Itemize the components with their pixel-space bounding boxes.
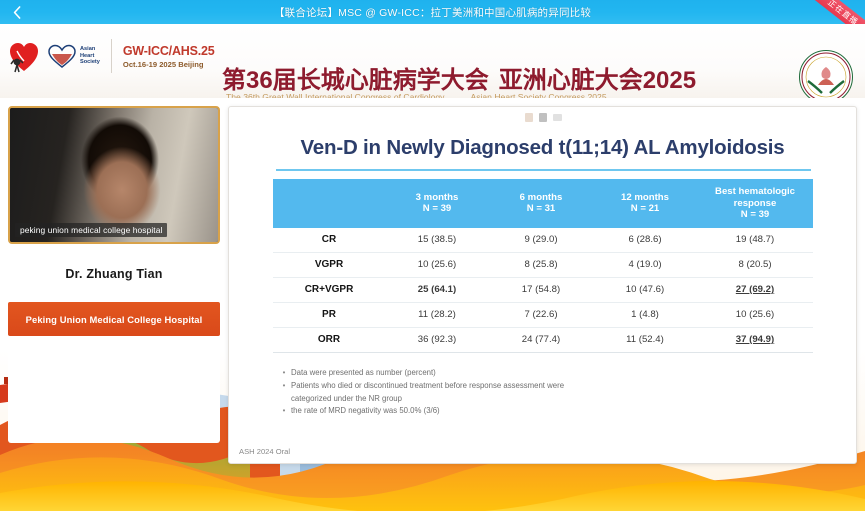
cell: 10 (47.6) <box>593 277 697 302</box>
cell: 19 (48.7) <box>697 228 813 253</box>
cell: 1 (4.8) <box>593 302 697 327</box>
ahs-heart-icon <box>47 42 77 70</box>
slide-reference: ASH 2024 Oral <box>239 447 290 456</box>
cell: 10 (25.6) <box>385 252 489 277</box>
congress-code: GW-ICC/AHS.25 <box>123 44 215 58</box>
cell: 10 (25.6) <box>697 302 813 327</box>
page-title: 【联合论坛】MSC @ GW-ICC：拉丁美洲和中国心肌病的异同比较 <box>0 5 865 20</box>
grid-icon[interactable] <box>553 114 562 121</box>
slide-toolbar <box>229 110 857 124</box>
congress-header: Asian Heart Society GW-ICC/AHS.25 Oct.16… <box>0 24 865 98</box>
mexican-cardiology-society-seal-icon <box>799 50 853 98</box>
note-text: Patients who died or discontinued treatm… <box>291 380 777 392</box>
cell: 15 (38.5) <box>385 228 489 253</box>
cell: 37 (94.9) <box>697 327 813 352</box>
header-label: 12 months <box>595 192 695 204</box>
cell: 7 (22.6) <box>489 302 593 327</box>
table-row: ORR 36 (92.3) 24 (77.4) 11 (52.4) 37 (94… <box>273 327 813 352</box>
table-header-row: 3 months N = 39 6 months N = 31 12 month… <box>273 179 813 228</box>
cell: 36 (92.3) <box>385 327 489 352</box>
row-label: CR <box>273 228 385 253</box>
header-n: N = 39 <box>387 203 487 215</box>
cell: 4 (19.0) <box>593 252 697 277</box>
header-label: Best hematologic response <box>699 186 811 209</box>
header-logo-group: Asian Heart Society GW-ICC/AHS.25 Oct.16… <box>8 38 215 74</box>
row-label: PR <box>273 302 385 327</box>
cell: 11 (52.4) <box>593 327 697 352</box>
slide-title: Ven-D in Newly Diagnosed t(11;14) AL Amy… <box>229 136 856 160</box>
cell: 9 (29.0) <box>489 228 593 253</box>
slide-notes: • Data were presented as number (percent… <box>277 367 777 418</box>
cell: 8 (25.8) <box>489 252 593 277</box>
table-header-12-months: 12 months N = 21 <box>593 179 697 228</box>
note-text: the rate of MRD negativity was 50.0% (3/… <box>291 405 777 417</box>
ahs-logo-text: Asian Heart Society <box>80 46 100 65</box>
congress-chinese-title: 第36届长城心脏病学大会 亚洲心脏大会2025 <box>222 60 696 95</box>
ahs-line-3: Society <box>80 59 100 65</box>
main-content: peking union medical college hospital Dr… <box>0 98 865 511</box>
bullet-icon: • <box>277 380 291 392</box>
heart-society-icon <box>8 38 40 74</box>
congress-cn-part1: 第36届长城心脏病学大会 <box>222 60 489 95</box>
speaker-name: Dr. Zhuang Tian <box>8 267 220 281</box>
header-label: 3 months <box>387 192 487 204</box>
response-table: 3 months N = 39 6 months N = 31 12 month… <box>273 179 813 353</box>
row-label: ORR <box>273 327 385 352</box>
video-caption: peking union medical college hospital <box>15 223 167 237</box>
cell: 17 (54.8) <box>489 277 593 302</box>
congress-code-block: GW-ICC/AHS.25 Oct.16-19 2025 Beijing <box>123 44 215 69</box>
note-item: • the rate of MRD negativity was 50.0% (… <box>277 405 777 417</box>
cell: 8 (20.5) <box>697 252 813 277</box>
table-header-3-months: 3 months N = 39 <box>385 179 489 228</box>
cell: 11 (28.2) <box>385 302 489 327</box>
table-row: PR 11 (28.2) 7 (22.6) 1 (4.8) 10 (25.6) <box>273 302 813 327</box>
header-label: 6 months <box>491 192 591 204</box>
header-n: N = 31 <box>491 203 591 215</box>
congress-dates: Oct.16-19 2025 Beijing <box>123 60 215 69</box>
note-icon[interactable] <box>539 113 547 122</box>
speaker-video[interactable]: peking union medical college hospital <box>8 106 220 244</box>
row-label: VGPR <box>273 252 385 277</box>
table-body: CR 15 (38.5) 9 (29.0) 6 (28.6) 19 (48.7)… <box>273 228 813 353</box>
header-n: N = 39 <box>699 209 811 221</box>
table-row: CR+VGPR 25 (64.1) 17 (54.8) 10 (47.6) 27… <box>273 277 813 302</box>
note-item: • Data were presented as number (percent… <box>277 367 777 379</box>
note-text: Data were presented as number (percent) <box>291 367 777 379</box>
note-item: • Patients who died or discontinued trea… <box>277 380 777 392</box>
table-header-corner <box>273 179 385 228</box>
table-header-best-response: Best hematologic response N = 39 <box>697 179 813 228</box>
table-row: VGPR 10 (25.6) 8 (25.8) 4 (19.0) 8 (20.5… <box>273 252 813 277</box>
header-divider <box>111 39 112 73</box>
cell: 6 (28.6) <box>593 228 697 253</box>
title-underline <box>276 169 811 171</box>
row-label: CR+VGPR <box>273 277 385 302</box>
cell: 24 (77.4) <box>489 327 593 352</box>
table-row: CR 15 (38.5) 9 (29.0) 6 (28.6) 19 (48.7) <box>273 228 813 253</box>
bullet-icon: • <box>277 367 291 379</box>
note-continuation: categorized under the NR group <box>277 393 777 405</box>
speaker-video-frame <box>10 108 218 242</box>
asian-heart-society-logo: Asian Heart Society <box>47 42 100 70</box>
bullet-icon: • <box>277 405 291 417</box>
table-header-6-months: 6 months N = 31 <box>489 179 593 228</box>
slide-card[interactable]: Ven-D in Newly Diagnosed t(11;14) AL Amy… <box>228 106 857 464</box>
header-n: N = 21 <box>595 203 695 215</box>
copy-icon[interactable] <box>525 113 533 122</box>
cell: 25 (64.1) <box>385 277 489 302</box>
speaker-panel: peking union medical college hospital Dr… <box>8 106 220 443</box>
cell: 27 (69.2) <box>697 277 813 302</box>
app-top-bar: 【联合论坛】MSC @ GW-ICC：拉丁美洲和中国心肌病的异同比较 正在直播 <box>0 0 865 24</box>
speaker-affiliation: Peking Union Medical College Hospital <box>8 302 220 336</box>
congress-cn-part2: 亚洲心脏大会2025 <box>499 60 696 95</box>
